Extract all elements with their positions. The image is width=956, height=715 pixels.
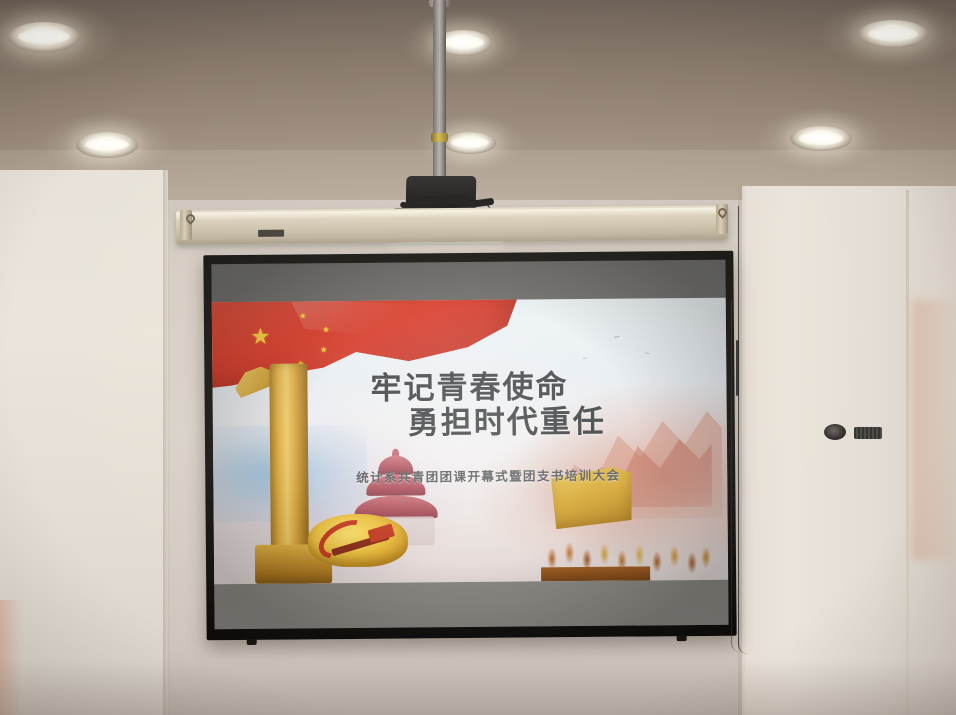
communist-party-emblem [301,504,415,578]
room-photo: ★ ★ ★ ★ ★ [0,0,956,715]
screen-weight-tab [677,635,687,641]
right-wall-seam [906,190,909,715]
bird-icon: ~ [643,349,650,358]
flag-star-icon: ★ [322,327,329,335]
left-wall-panel [0,170,168,715]
downlight-icon [444,132,496,154]
roller-highlight [176,207,728,220]
screen-weight-tab [247,639,257,645]
projector-pole-band [431,133,448,142]
downlight-icon [858,20,928,48]
flag-star-icon: ★ [320,346,327,354]
projection-screen: ★ ★ ★ ★ ★ [203,251,736,641]
screen-surface: ★ ★ ★ ★ ★ [211,260,728,629]
flag-fold-highlight [290,298,435,353]
flag-star-icon: ★ [299,313,306,321]
projector-lens-icon [824,424,846,440]
downlight-icon [790,126,852,151]
projected-slide: ★ ★ ★ ★ ★ [212,298,728,584]
projector-vent [854,427,882,439]
right-wall-warm-glow [912,300,956,560]
bird-icon: ~ [582,355,588,362]
downlight-core [868,27,918,41]
flag-star-icon: ★ [251,327,271,349]
monument-base [541,566,649,581]
roller-label-plate [258,230,284,237]
downlight-icon [76,132,138,158]
projection-screen-roller-housing [176,205,728,244]
projector-mount-pole [433,0,446,196]
wall-floor-shadow [0,660,956,715]
left-wall-corner-edge [163,170,170,715]
downlight-core [799,132,844,145]
wall-cable-clip [736,340,739,396]
downlight-icon [8,22,80,52]
bird-icon: ~ [612,332,622,343]
